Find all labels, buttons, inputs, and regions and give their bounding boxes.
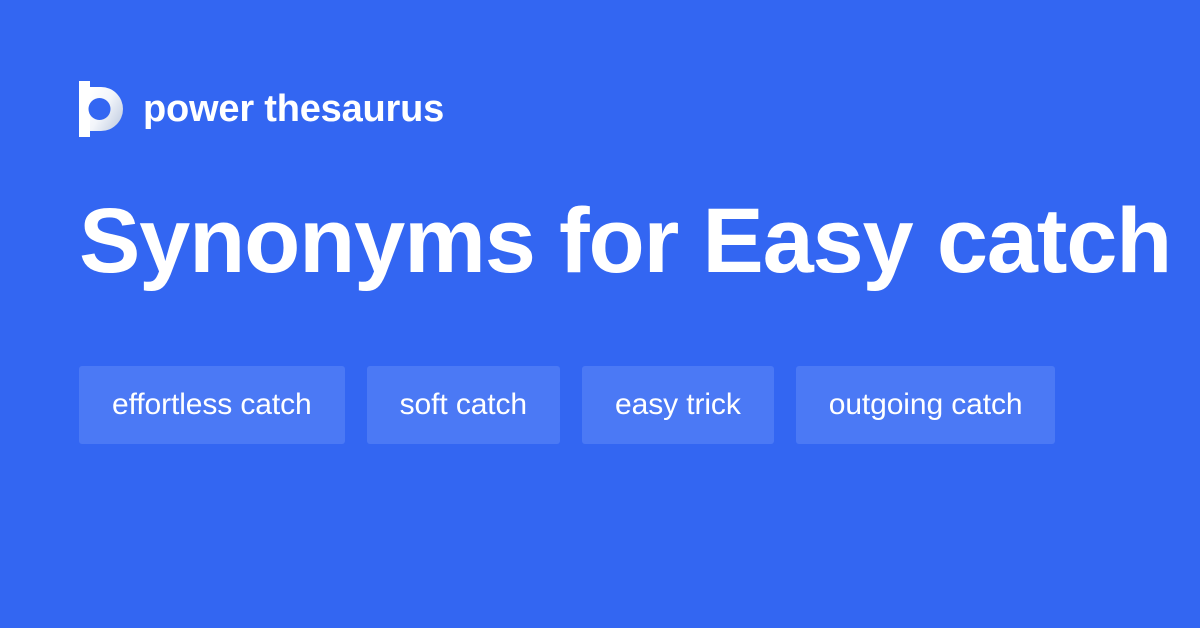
synonym-chip-list: effortless catch soft catch easy trick o…	[79, 366, 1129, 444]
brand-logo[interactable]: power thesaurus	[79, 78, 444, 140]
brand-name: power thesaurus	[143, 90, 444, 128]
synonym-chip[interactable]: outgoing catch	[796, 366, 1056, 444]
power-thesaurus-logo-icon	[79, 81, 123, 137]
synonym-chip[interactable]: easy trick	[582, 366, 774, 444]
page-title: Synonyms for Easy catch	[79, 192, 1171, 291]
synonym-chip[interactable]: soft catch	[367, 366, 560, 444]
synonym-chip[interactable]: effortless catch	[79, 366, 345, 444]
og-card: power thesaurus Synonyms for Easy catch …	[0, 0, 1200, 628]
